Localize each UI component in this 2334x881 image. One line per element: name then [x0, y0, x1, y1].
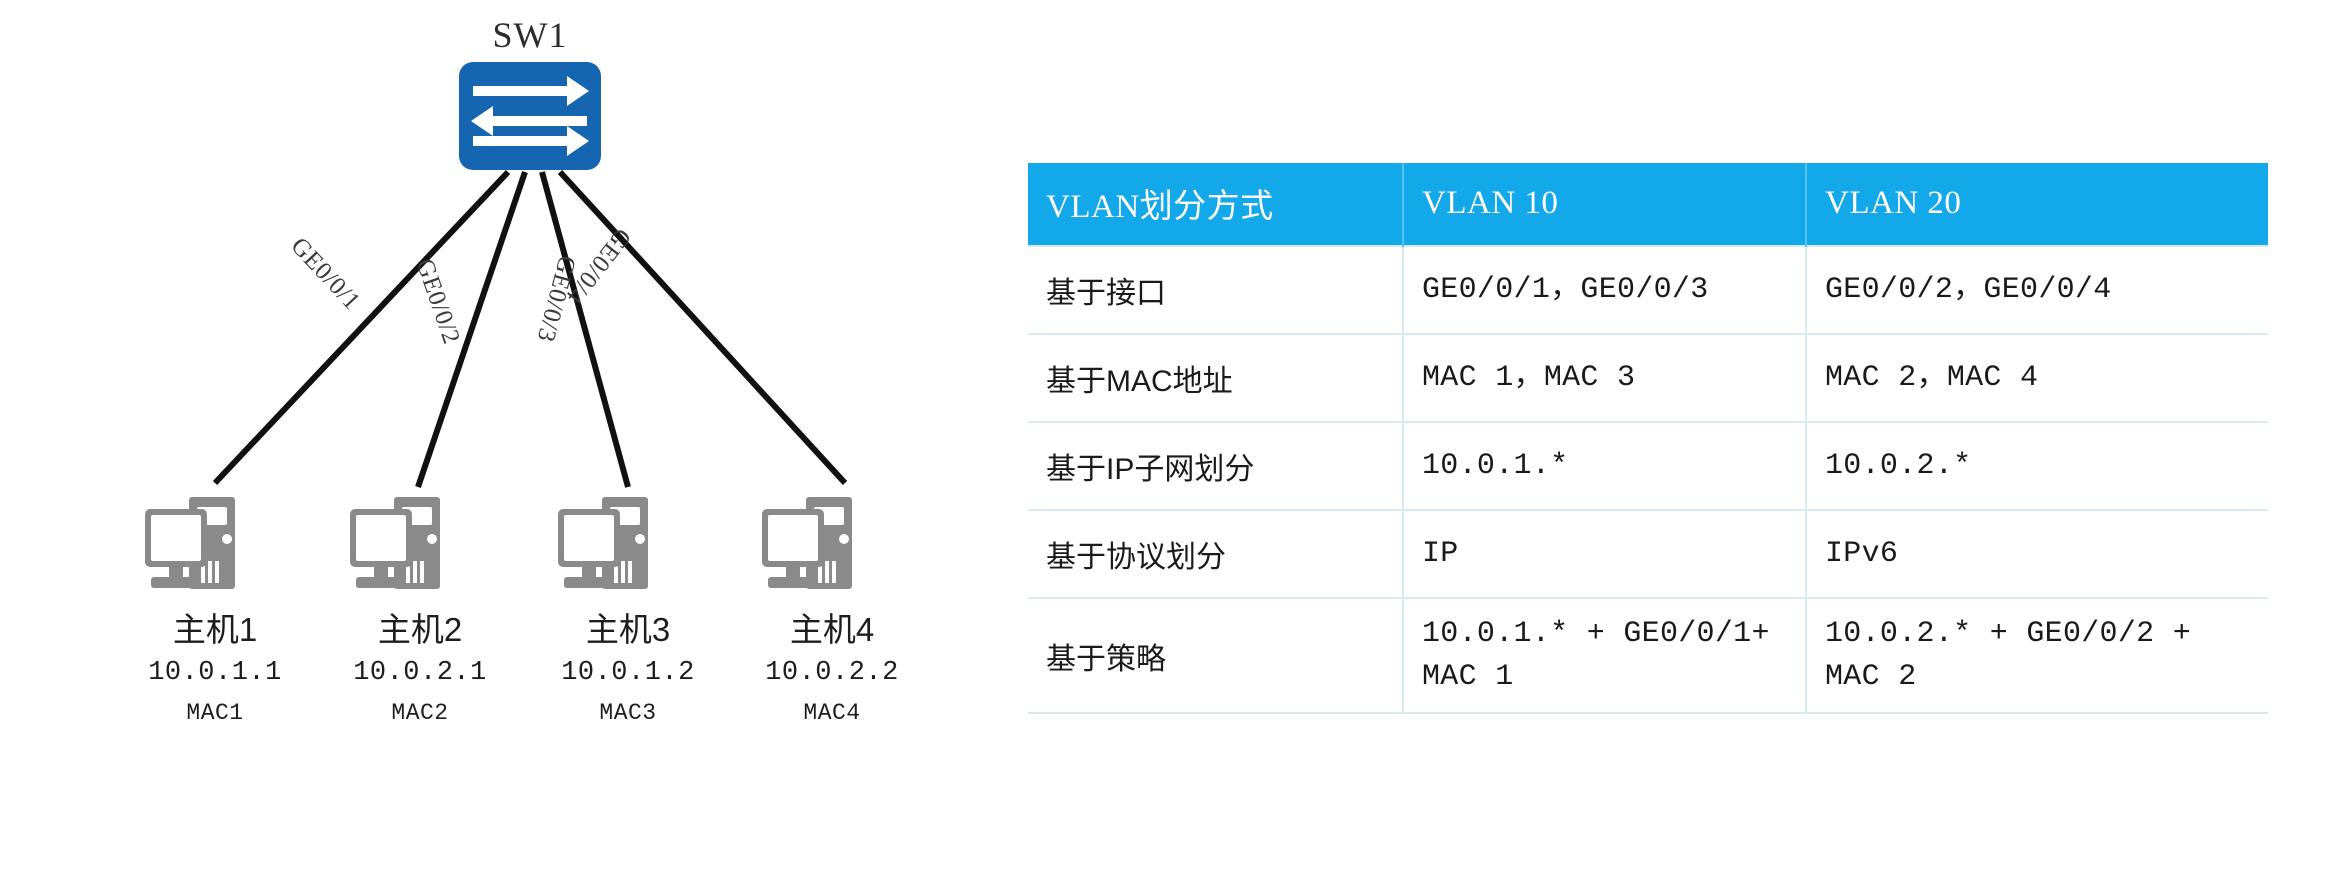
host-label-2: 主机2 10.0.2.1 MAC2 [305, 613, 535, 725]
host-label-1: 主机1 10.0.1.1 MAC1 [100, 613, 330, 725]
table-header-row: VLAN划分方式 VLAN 10 VLAN 20 [1028, 163, 2268, 246]
cell-vlan20: MAC 2，MAC 4 [1806, 334, 2268, 422]
host-mac: MAC1 [100, 702, 330, 725]
cell-vlan10: MAC 1，MAC 3 [1403, 334, 1806, 422]
cell-method: 基于接口 [1028, 246, 1403, 334]
switch-label: SW1 [430, 14, 630, 56]
host-name: 主机3 [513, 613, 743, 646]
cell-method: 基于策略 [1028, 598, 1403, 713]
cell-vlan10: GE0/0/1，GE0/0/3 [1403, 246, 1806, 334]
host-icon-4 [762, 497, 852, 589]
table-row: 基于接口 GE0/0/1，GE0/0/3 GE0/0/2，GE0/0/4 [1028, 246, 2268, 334]
cell-vlan10: IP [1403, 510, 1806, 598]
cell-vlan10: 10.0.1.* [1403, 422, 1806, 510]
host-icon-1 [145, 497, 235, 589]
switch-arrows-icon [459, 62, 601, 170]
host-icon-2 [350, 497, 440, 589]
network-topology-diagram: SW1 GE0/0/1 GE0/0/2 GE0/0/3 GE0/0/4 主机1 … [0, 0, 1000, 881]
cell-vlan20: 10.0.2.* + GE0/0/2 + MAC 2 [1806, 598, 2268, 713]
table-row: 基于协议划分 IP IPv6 [1028, 510, 2268, 598]
cell-vlan10: 10.0.1.* + GE0/0/1+ MAC 1 [1403, 598, 1806, 713]
cell-vlan20: 10.0.2.* [1806, 422, 2268, 510]
vlan-assignment-table: VLAN划分方式 VLAN 10 VLAN 20 基于接口 GE0/0/1，GE… [1028, 163, 2268, 714]
host-ip: 10.0.2.2 [757, 657, 907, 690]
host-name: 主机2 [305, 613, 535, 646]
column-header-vlan20: VLAN 20 [1806, 163, 2268, 246]
cell-vlan20: IPv6 [1806, 510, 2268, 598]
cell-method: 基于IP子网划分 [1028, 422, 1403, 510]
column-header-vlan10: VLAN 10 [1403, 163, 1806, 246]
host-label-4: 主机4 10.0.2.2 MAC4 [717, 613, 947, 725]
link-line-ge0-0-4 [560, 172, 845, 483]
host-ip: 10.0.1.1 [140, 657, 290, 690]
cell-method: 基于协议划分 [1028, 510, 1403, 598]
cell-method: 基于MAC地址 [1028, 334, 1403, 422]
host-mac: MAC3 [513, 702, 743, 725]
host-icon-3 [558, 497, 648, 589]
column-header-method: VLAN划分方式 [1028, 163, 1403, 246]
table-row: 基于IP子网划分 10.0.1.* 10.0.2.* [1028, 422, 2268, 510]
host-ip: 10.0.2.1 [345, 657, 495, 690]
cell-vlan20: GE0/0/2，GE0/0/4 [1806, 246, 2268, 334]
host-name: 主机4 [717, 613, 947, 646]
host-ip: 10.0.1.2 [553, 657, 703, 690]
host-mac: MAC4 [717, 702, 947, 725]
table-row: 基于MAC地址 MAC 1，MAC 3 MAC 2，MAC 4 [1028, 334, 2268, 422]
link-line-ge0-0-1 [215, 172, 508, 483]
table-row: 基于策略 10.0.1.* + GE0/0/1+ MAC 1 10.0.2.* … [1028, 598, 2268, 713]
host-mac: MAC2 [305, 702, 535, 725]
host-name: 主机1 [100, 613, 330, 646]
host-label-3: 主机3 10.0.1.2 MAC3 [513, 613, 743, 725]
network-switch-icon[interactable] [459, 62, 601, 170]
